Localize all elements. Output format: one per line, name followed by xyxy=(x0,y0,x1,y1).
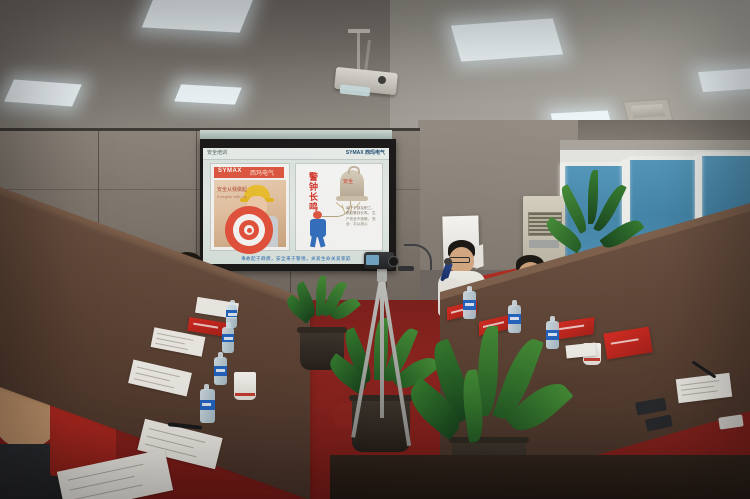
projector-pole xyxy=(357,33,360,71)
slide-header-left: 安全培训 xyxy=(207,148,227,159)
microphone-base xyxy=(398,266,414,271)
water-bottle xyxy=(463,286,476,320)
ceiling-light-panel xyxy=(698,68,750,92)
air-conditioner-panel xyxy=(529,240,559,248)
water-bottle xyxy=(214,352,227,388)
ceiling-light-panel xyxy=(174,84,242,104)
table-front-face xyxy=(330,455,750,499)
slide-left-title: 安全从我做起 xyxy=(217,186,247,193)
paper-cup xyxy=(234,372,256,400)
slide-left-subtitle: It begins with me xyxy=(217,194,247,199)
plant-foliage xyxy=(556,170,634,274)
ceiling-light-panel xyxy=(4,80,82,107)
slide-right-card: 警钟长鸣 安全 每个干部及职工， 都应警钟长鸣， 生产安全不造假， 安全：平从用… xyxy=(295,163,383,251)
slide-left-card: SYMAX 西玛电气 安全从我做起 It begins with me xyxy=(210,163,290,251)
camera-screen xyxy=(366,255,379,265)
meeting-room-photo: 安全培训 SYMAX 西玛电气 SYMAX 西玛电气 安全从我做起 It beg… xyxy=(0,0,750,499)
presenter-glasses xyxy=(449,257,470,263)
tripod-leg xyxy=(380,268,384,418)
person-icon-leg xyxy=(310,235,317,248)
ceiling-light-panel xyxy=(451,18,563,61)
ceiling-light-panel xyxy=(142,0,254,33)
slide-right-body: 每个干部及职工， 都应警钟长鸣， 生产安全不造假， 安全：平从用心 xyxy=(346,206,378,228)
water-bottle xyxy=(226,300,237,328)
slide-footer-text: 事故起于麻痹，安全来于警惕，关爱生命关爱家庭 xyxy=(203,256,389,262)
water-bottle xyxy=(200,384,215,424)
camera-lens-icon xyxy=(388,256,399,267)
projected-slide: 安全培训 SYMAX 西玛电气 SYMAX 西玛电气 安全从我做起 It beg… xyxy=(203,148,389,264)
slide-header-right: SYMAX 西玛电气 xyxy=(346,148,385,159)
screen-roller-bar xyxy=(200,130,392,139)
slide-right-title: 警钟长鸣 xyxy=(302,172,318,212)
slide-header: 安全培训 SYMAX 西玛电气 xyxy=(203,148,389,160)
plant-foliage xyxy=(420,326,560,452)
person-icon-head xyxy=(313,211,322,219)
logo-text-cn: 西玛电气 xyxy=(250,168,274,177)
bell-label: 安全 xyxy=(343,178,353,185)
symax-logo: SYMAX 西玛电气 xyxy=(214,167,284,178)
target-graphic xyxy=(225,206,273,254)
logo-text: SYMAX xyxy=(218,168,242,174)
microphone-head xyxy=(444,258,452,265)
